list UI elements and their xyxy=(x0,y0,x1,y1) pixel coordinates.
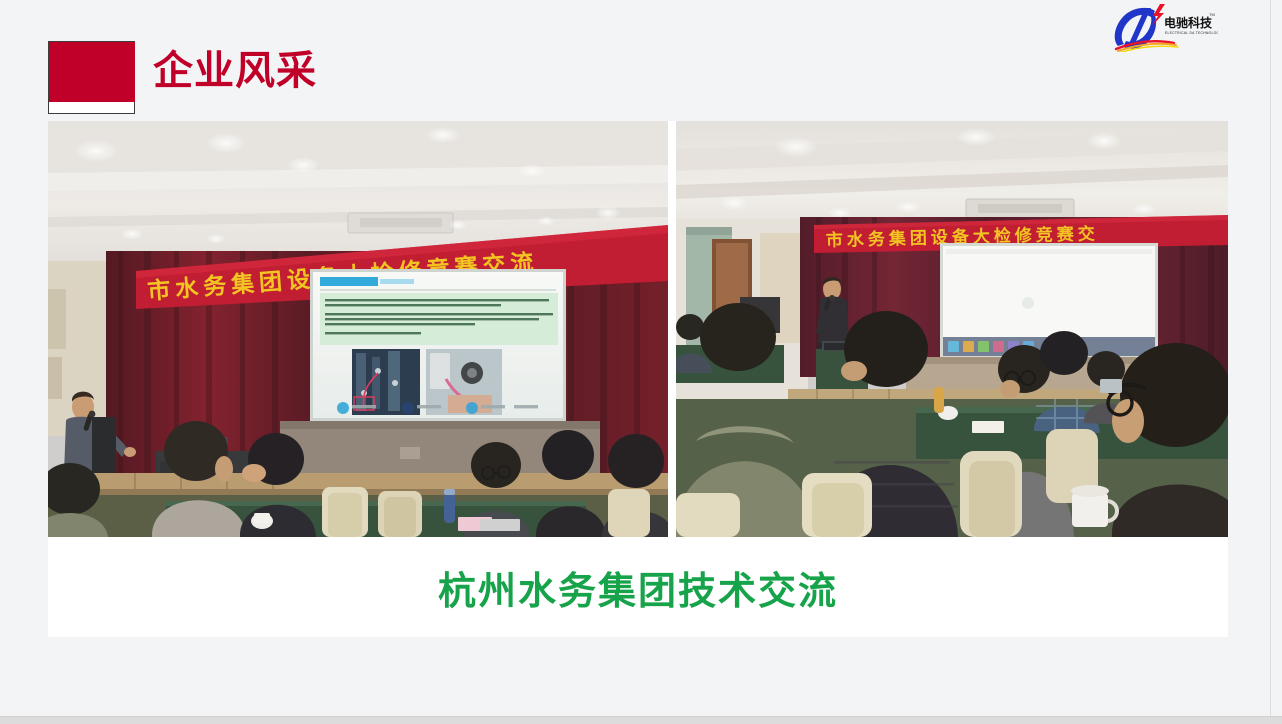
gallery-caption: 杭州水务集团技术交流 xyxy=(438,560,838,615)
logo-trademark: TM xyxy=(1209,12,1215,17)
page-title: 企业风采 xyxy=(153,45,317,97)
logo-chinese-wordmark: 电驰科技 xyxy=(1164,15,1213,30)
gallery-photo-2[interactable]: 市水务集团设备大检修竞赛交 xyxy=(676,121,1228,537)
logo-english-subtitle: ELECTRICAL DA TECHNOLOGY xyxy=(1165,31,1218,35)
gallery-caption-band: 杭州水务集团技术交流 xyxy=(48,537,1228,637)
svg-text:ELECTRICAL DA TECHNOLOGY: ELECTRICAL DA TECHNOLOGY xyxy=(1165,31,1218,35)
horizontal-scrollbar[interactable] xyxy=(0,716,1282,724)
svg-text:电驰科技: 电驰科技 xyxy=(1164,15,1213,30)
photo-row: 市水务集团设备大检修竞赛交流 xyxy=(48,121,1228,537)
vertical-scrollbar[interactable] xyxy=(1270,0,1276,716)
title-red-mark xyxy=(48,41,135,114)
page-root: 电驰科技 ELECTRICAL DA TECHNOLOGY TM xyxy=(0,0,1276,716)
company-logo: 电驰科技 ELECTRICAL DA TECHNOLOGY TM xyxy=(1108,2,1218,52)
page-header: 电驰科技 ELECTRICAL DA TECHNOLOGY TM xyxy=(0,0,1276,121)
gallery-card: 市水务集团设备大检修竞赛交流 xyxy=(48,121,1228,637)
gallery-photo-1[interactable]: 市水务集团设备大检修竞赛交流 xyxy=(48,121,668,537)
title-red-mark-fill xyxy=(49,42,135,102)
